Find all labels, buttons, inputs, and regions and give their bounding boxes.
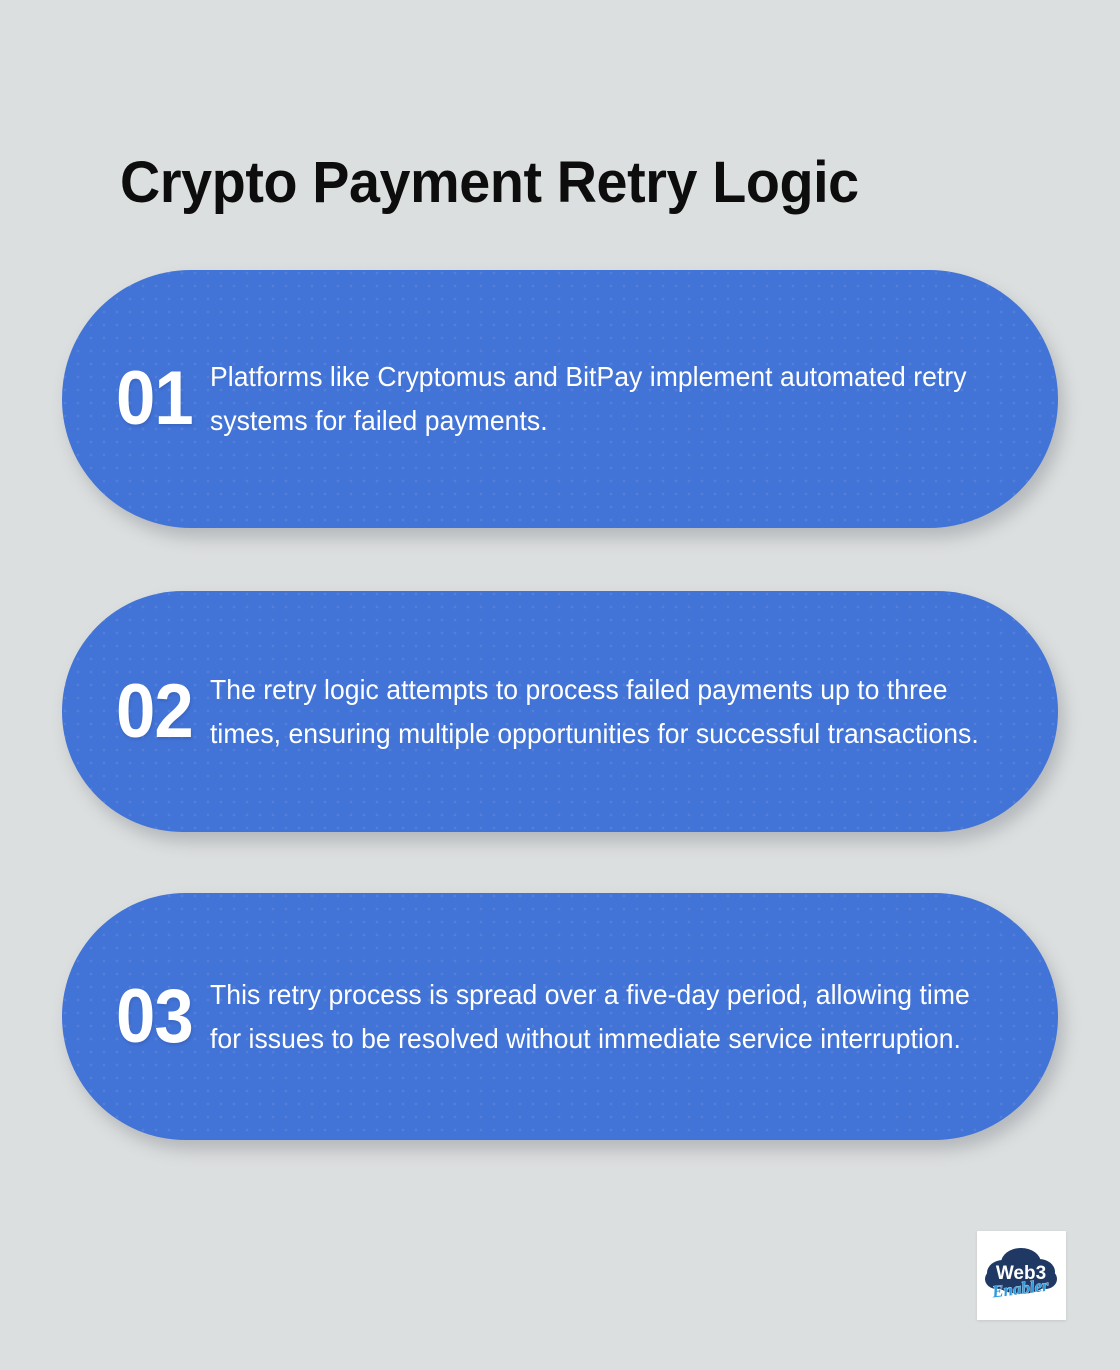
- list-item: 02 The retry logic attempts to process f…: [62, 591, 1058, 832]
- cloud-icon: Web3 Enabler: [977, 1231, 1066, 1320]
- card-number: 03: [62, 978, 200, 1056]
- list-item: 03 This retry process is spread over a f…: [62, 893, 1058, 1140]
- card-text: Platforms like Cryptomus and BitPay impl…: [210, 355, 1028, 443]
- card-text: This retry process is spread over a five…: [210, 973, 1028, 1061]
- card-number: 01: [62, 360, 200, 438]
- card-number: 02: [62, 673, 200, 751]
- card-list: 01 Platforms like Cryptomus and BitPay i…: [0, 0, 1120, 1370]
- card-text: The retry logic attempts to process fail…: [210, 668, 1028, 756]
- infographic-page: Crypto Payment Retry Logic 01 Platforms …: [0, 0, 1120, 1370]
- web3-enabler-logo: Web3 Enabler: [977, 1231, 1066, 1320]
- list-item: 01 Platforms like Cryptomus and BitPay i…: [62, 270, 1058, 528]
